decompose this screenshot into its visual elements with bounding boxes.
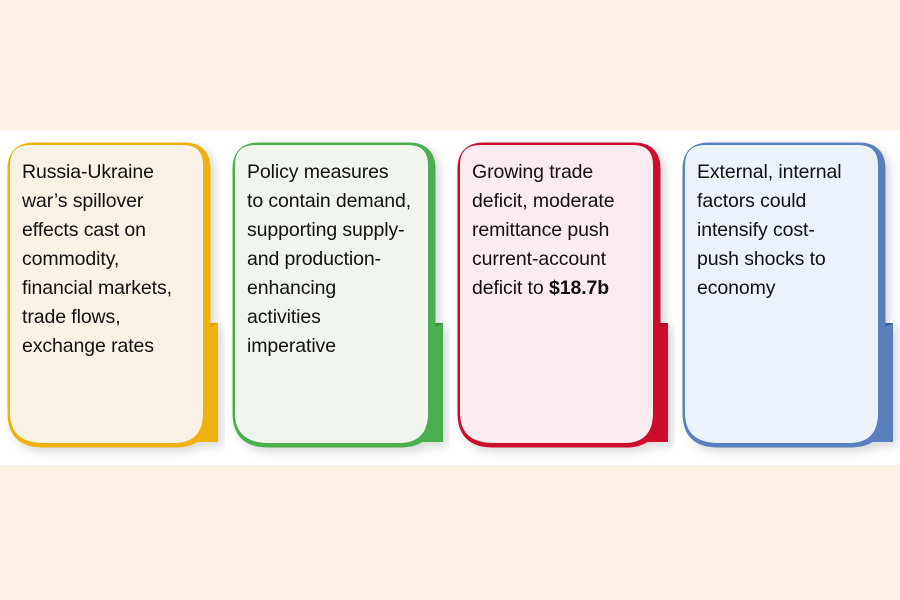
info-card[interactable]: Growing trade deficit, moderate remittan… [450,131,675,465]
card-text-highlight: $18.7b [549,277,609,299]
background-band-top [0,0,900,131]
card-text: Russia-Ukraine war’s spillover effects c… [22,158,195,361]
card-text: Policy measures to contain demand, suppo… [247,158,420,361]
infographic-canvas: Russia-Ukraine war’s spillover effects c… [0,0,900,600]
card-row: Russia-Ukraine war’s spillover effects c… [0,131,900,465]
info-card[interactable]: Policy measures to contain demand, suppo… [225,131,450,465]
info-card[interactable]: External, internal factors could intensi… [675,131,900,465]
background-band-bottom [0,465,900,600]
card-text: External, internal factors could intensi… [697,158,870,303]
info-card[interactable]: Russia-Ukraine war’s spillover effects c… [0,131,225,465]
card-text: Growing trade deficit, moderate remittan… [472,158,645,303]
